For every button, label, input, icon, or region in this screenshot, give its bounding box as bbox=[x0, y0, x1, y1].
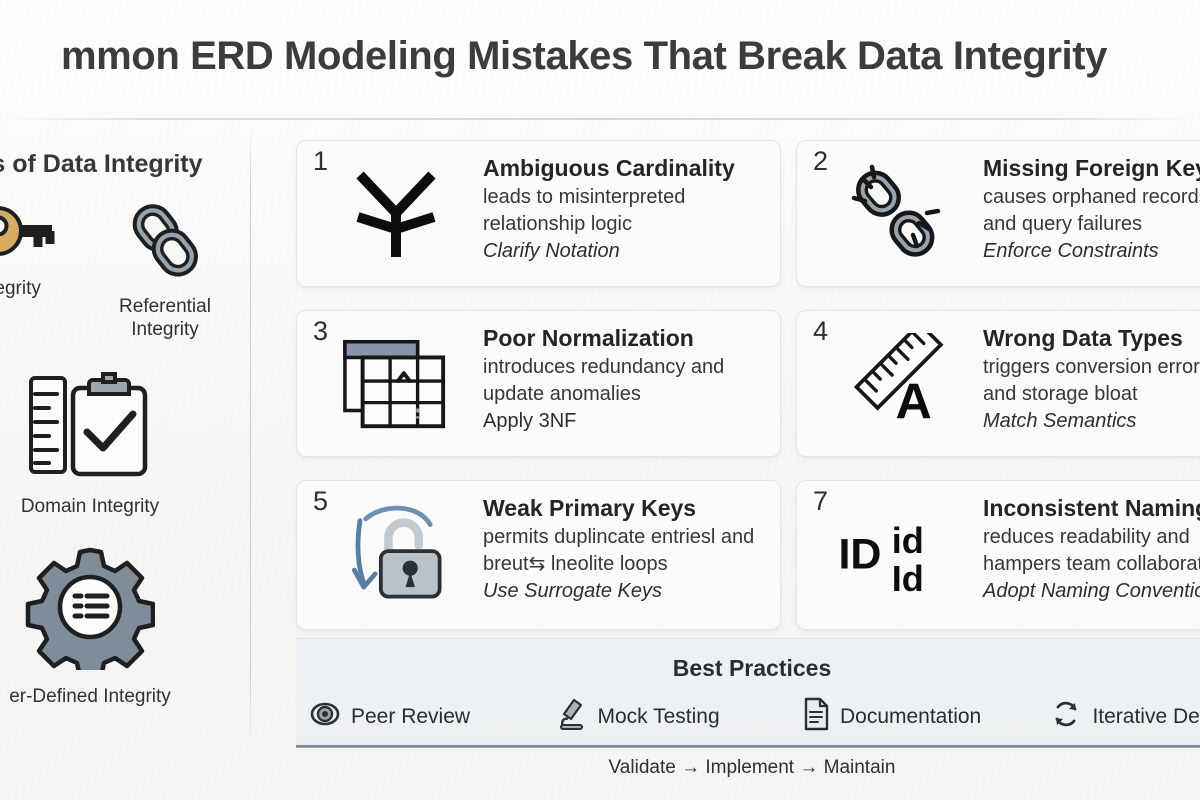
gear-list-icon bbox=[25, 544, 155, 675]
card-title: Wrong Data Types bbox=[983, 323, 1200, 353]
card-number: 3 bbox=[313, 318, 328, 345]
sidebar-item-label: Domain Integrity bbox=[21, 495, 159, 518]
card-title: Missing Foreign Keys bbox=[983, 153, 1200, 183]
unlocked-padlock-arrow-icon bbox=[341, 503, 451, 603]
card-number: 2 bbox=[813, 148, 828, 175]
card-desc-line-2: and storage bloat bbox=[983, 382, 1200, 407]
microscope-icon bbox=[556, 697, 586, 736]
eye-icon bbox=[310, 701, 340, 732]
sidebar-item-user-defined-integrity[interactable]: er-Defined Integrity bbox=[0, 544, 240, 708]
stacked-tables-icon bbox=[341, 333, 451, 433]
svg-text:id: id bbox=[892, 520, 924, 561]
card-body: Inconsistent Naming reduces readability … bbox=[983, 493, 1200, 605]
card-number: 4 bbox=[813, 318, 828, 345]
best-practices-panel: Best Practices Peer Review bbox=[296, 638, 1200, 747]
card-body: Missing Foreign Keys causes orphaned rec… bbox=[983, 153, 1200, 265]
sidebar-item-entity-integrity[interactable]: tegrity bbox=[0, 200, 90, 341]
sidebar-item-label: Referential Integrity bbox=[90, 295, 240, 341]
card-desc-line-1: causes orphaned records bbox=[983, 185, 1200, 210]
sidebar: es of Data Integrity tegrity bbox=[0, 132, 240, 752]
svg-text:A: A bbox=[896, 372, 932, 429]
sidebar-item-label: er-Defined Integrity bbox=[9, 685, 171, 708]
refresh-cycle-icon bbox=[1051, 699, 1081, 734]
card-action: Adopt Naming Conventions bbox=[983, 578, 1200, 605]
card-desc-line-1: reduces readability and bbox=[983, 525, 1200, 550]
card-body: Ambiguous Cardinality leads to misinterp… bbox=[483, 153, 781, 265]
best-practices-list: Peer Review Mock Testing bbox=[310, 697, 1200, 736]
sidebar-item-domain-integrity[interactable]: Domain Integrity bbox=[0, 370, 240, 518]
mistake-card[interactable]: 1 Ambiguous Cardinality leads to misinte… bbox=[296, 140, 781, 287]
card-title: Inconsistent Naming bbox=[983, 493, 1200, 523]
mistake-card[interactable]: 7 ID id Id Inconsistent Naming reduces r… bbox=[796, 480, 1200, 630]
card-action: Match Semantics bbox=[983, 408, 1200, 435]
mistake-card[interactable]: 4 A Wrong Data Types triggers conversion… bbox=[796, 310, 1200, 457]
card-desc-line-1: introduces redundancy and bbox=[483, 355, 781, 380]
ruler-clipboard-check-icon bbox=[15, 370, 165, 485]
sidebar-item-referential-integrity[interactable]: Referential Integrity bbox=[90, 200, 240, 341]
document-icon bbox=[803, 697, 829, 736]
best-practices-heading: Best Practices bbox=[296, 655, 1200, 682]
ruler-letter-a-icon: A bbox=[841, 333, 951, 433]
footer-rule bbox=[296, 745, 1200, 748]
card-number: 5 bbox=[313, 488, 328, 515]
integrity-row-1: tegrity Referential Integrity bbox=[0, 200, 240, 341]
card-body: Weak Primary Keys permits duplincate ent… bbox=[483, 493, 781, 605]
best-practice-item[interactable]: Documentation bbox=[803, 697, 1051, 736]
card-body: Poor Normalization introduces redundancy… bbox=[483, 323, 781, 435]
title-band: mmon ERD Modeling Mistakes That Break Da… bbox=[0, 0, 1200, 120]
best-practice-label: Documentation bbox=[840, 705, 981, 729]
card-number: 7 bbox=[813, 488, 828, 515]
card-title: Weak Primary Keys bbox=[483, 493, 781, 523]
card-action: Use Surrogate Keys bbox=[483, 578, 781, 605]
best-practice-item[interactable]: Peer Review bbox=[310, 697, 556, 736]
chain-link-icon bbox=[122, 200, 208, 285]
card-desc-line-2: and query failures bbox=[983, 212, 1200, 237]
best-practice-item[interactable]: Mock Testing bbox=[556, 697, 802, 736]
broken-chain-icon bbox=[841, 163, 951, 263]
title-divider bbox=[0, 118, 1200, 120]
mistake-card[interactable]: 2 Missing Foreign Keys bbox=[796, 140, 1200, 287]
best-practice-item[interactable]: Iterative Design bbox=[1051, 697, 1200, 736]
sidebar-divider bbox=[250, 126, 251, 750]
page-title: mmon ERD Modeling Mistakes That Break Da… bbox=[0, 34, 1200, 79]
svg-text:Id: Id bbox=[892, 558, 924, 599]
card-action: Apply 3NF bbox=[483, 408, 781, 435]
best-practice-label: Iterative Design bbox=[1092, 705, 1200, 729]
best-practice-label: Mock Testing bbox=[597, 705, 719, 729]
workflow-sequence: Validate → Implement → Maintain bbox=[296, 757, 1200, 779]
card-desc-line-1: triggers conversion errors bbox=[983, 355, 1200, 380]
card-title: Poor Normalization bbox=[483, 323, 781, 353]
integrity-row-2: Domain Integrity bbox=[0, 370, 240, 518]
crows-foot-notation-icon bbox=[341, 163, 451, 263]
card-body: Wrong Data Types triggers conversion err… bbox=[983, 323, 1200, 435]
integrity-row-3: er-Defined Integrity bbox=[0, 544, 240, 708]
sidebar-heading: es of Data Integrity bbox=[0, 150, 240, 179]
mistake-card[interactable]: 3 Poor Normalization bbox=[296, 310, 781, 457]
card-desc-line-1: leads to misinterpreted bbox=[483, 185, 781, 210]
card-desc-line-2: relationship logic bbox=[483, 212, 781, 237]
card-number: 1 bbox=[313, 148, 328, 175]
card-desc-line-1: permits duplincate entriesl and bbox=[483, 525, 781, 550]
key-icon bbox=[0, 200, 58, 267]
infographic-canvas: mmon ERD Modeling Mistakes That Break Da… bbox=[0, 0, 1200, 800]
best-practice-label: Peer Review bbox=[351, 705, 470, 729]
mistake-card[interactable]: 5 Weak Primary Keys permits duplincate e… bbox=[296, 480, 781, 630]
sidebar-item-label: tegrity bbox=[0, 277, 41, 300]
card-desc-line-2: update anomalies bbox=[483, 382, 781, 407]
card-desc-line-2: hampers team collaboration bbox=[983, 552, 1200, 577]
card-desc-line-2: breut⇆ lneolite loops bbox=[483, 552, 781, 577]
card-action: Clarify Notation bbox=[483, 238, 781, 265]
svg-text:ID: ID bbox=[838, 530, 881, 578]
card-title: Ambiguous Cardinality bbox=[483, 153, 781, 183]
card-action: Enforce Constraints bbox=[983, 238, 1200, 265]
id-variants-icon: ID id Id bbox=[835, 503, 945, 603]
